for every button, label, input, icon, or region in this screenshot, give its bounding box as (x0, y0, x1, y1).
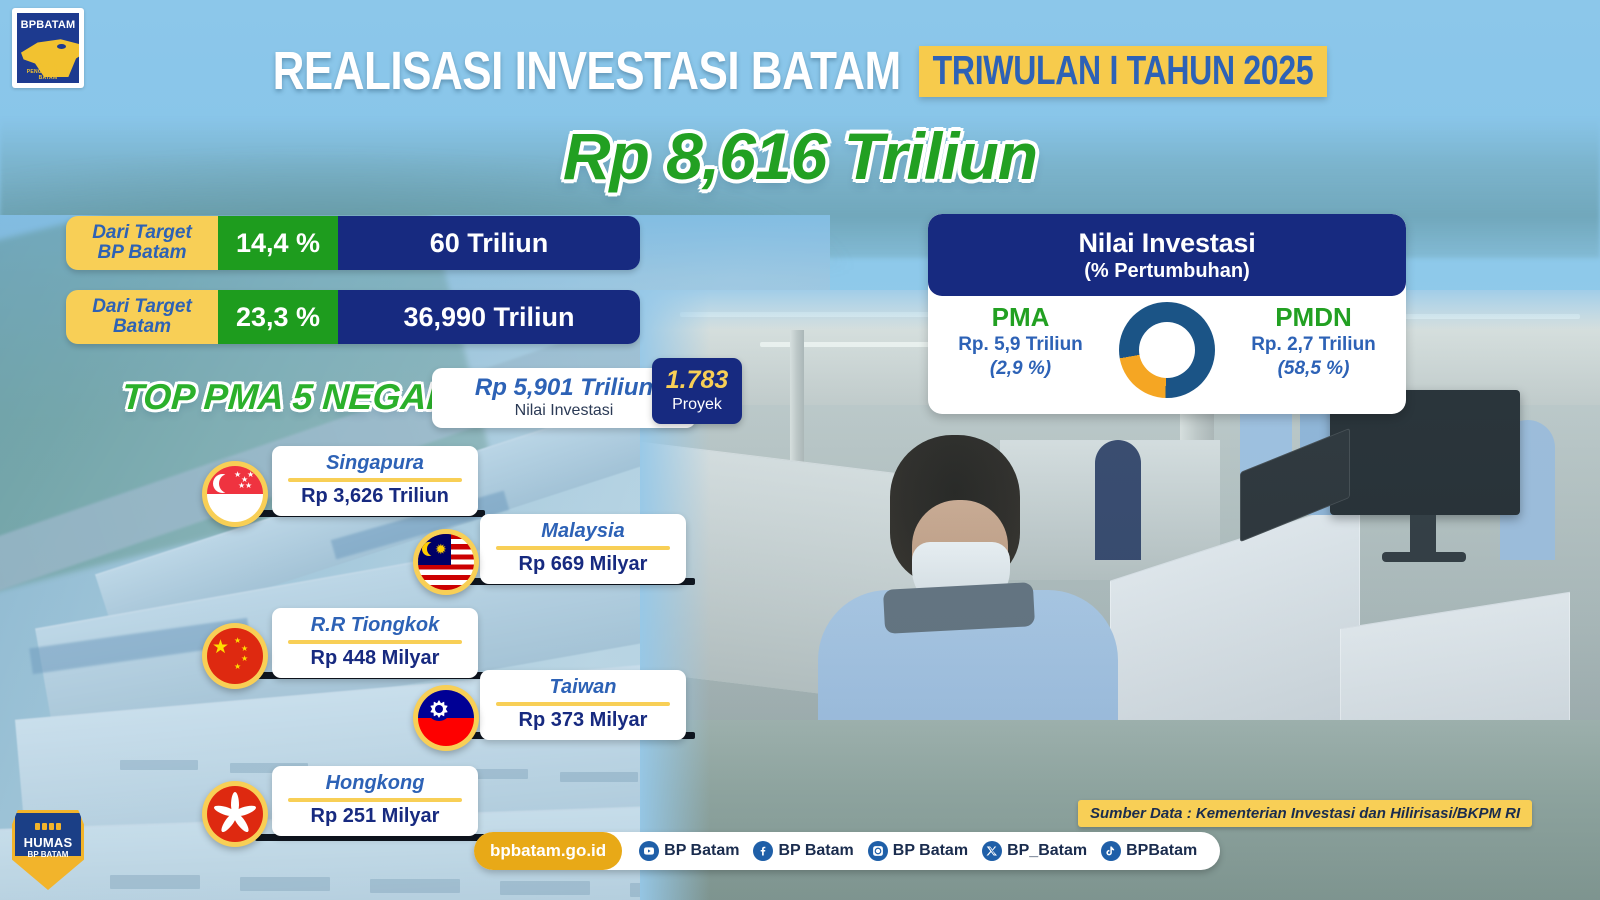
social-handle: BP Batam (664, 842, 739, 860)
x-twitter-icon (982, 841, 1002, 861)
target-label-line1: Dari Target (92, 223, 192, 243)
pmdn-amount: Rp. 2,7 Triliun (1221, 334, 1406, 356)
target-bar-batam: Dari Target Batam 23,3 % 36,990 Triliun (66, 290, 640, 344)
project-count-badge: 1.783 Proyek (652, 358, 742, 424)
tiktok-icon (1101, 841, 1121, 861)
humas-logo-line1: HUMAS (15, 835, 81, 850)
nilai-investasi-card: Nilai Investasi (% Pertumbuhan) PMA Rp. … (928, 214, 1406, 414)
social-handle: BP Batam (778, 842, 853, 860)
flag-china-icon: ★ ★ ★ ★ ★ (202, 623, 268, 689)
social-instagram[interactable]: BP Batam (868, 841, 968, 861)
country-value: Rp 669 Milyar (490, 554, 676, 575)
top-pma-heading: TOP PMA 5 NEGARA (121, 376, 481, 418)
project-count-value: 1.783 (666, 368, 729, 393)
social-facebook[interactable]: BP Batam (753, 841, 853, 861)
target-bar-label: Dari Target Batam (66, 290, 218, 344)
target-value: 60 Triliun (338, 216, 640, 270)
pma-amount: Rp. 5,9 Triliun (928, 334, 1113, 356)
target-label-line2: Batam (113, 317, 171, 337)
page-title: REALISASI INVESTASI BATAM (273, 41, 901, 102)
pmdn-column: PMDN Rp. 2,7 Triliun (58,5 %) (1221, 296, 1406, 380)
country-name: Hongkong (282, 773, 468, 794)
nilai-investasi-title: Nilai Investasi (1078, 228, 1255, 259)
social-youtube[interactable]: BP Batam (639, 841, 739, 861)
pma-total-label: Nilai Investasi (515, 402, 614, 420)
social-x-twitter[interactable]: BP_Batam (982, 841, 1087, 861)
humas-logo-line2: BP BATAM (15, 850, 81, 859)
period-badge: TRIWULAN I TAHUN 2025 (919, 46, 1328, 97)
country-name: R.R Tiongkok (282, 615, 468, 636)
country-name: Malaysia (490, 521, 676, 542)
pmdn-growth: (58,5 %) (1221, 358, 1406, 380)
target-bar-bp-batam: Dari Target BP Batam 14,4 % 60 Triliun (66, 216, 640, 270)
country-value: Rp 448 Milyar (282, 648, 468, 669)
social-handle: BP_Batam (1007, 842, 1087, 860)
pma-growth: (2,9 %) (928, 358, 1113, 380)
total-investment-value: Rp 8,616 Triliun (0, 118, 1600, 194)
facebook-icon (753, 841, 773, 861)
country-value: Rp 251 Milyar (282, 806, 468, 827)
nilai-investasi-body: PMA Rp. 5,9 Triliun (2,9 %) PMDN Rp. 2,7… (928, 296, 1406, 414)
flag-singapore-icon: ★ ★ ★ ★ ★ (202, 461, 268, 527)
humas-bpbatam-logo: HUMAS BP BATAM (12, 810, 84, 890)
target-bar-label: Dari Target BP Batam (66, 216, 218, 270)
website-pill[interactable]: bpbatam.go.id (474, 832, 622, 870)
nilai-investasi-subtitle: (% Pertumbuhan) (1084, 260, 1250, 283)
target-label-line2: BP Batam (97, 243, 186, 263)
pma-label: PMA (928, 304, 1113, 331)
target-percent: 23,3 % (218, 290, 338, 344)
target-percent: 14,4 % (218, 216, 338, 270)
footer-social-bar: bpbatam.go.id BP Batam BP Batam BP Batam… (474, 832, 1220, 870)
flag-taiwan-icon (413, 685, 479, 751)
social-tiktok[interactable]: BPBatam (1101, 841, 1197, 861)
social-handle: BPBatam (1126, 842, 1197, 860)
source-note: Sumber Data : Kementerian Investasi dan … (1078, 800, 1532, 827)
youtube-icon (639, 841, 659, 861)
target-value: 36,990 Triliun (338, 290, 640, 344)
target-label-line1: Dari Target (92, 297, 192, 317)
flag-hongkong-icon (202, 781, 268, 847)
country-name: Singapura (282, 453, 468, 474)
headline-row: REALISASI INVESTASI BATAM TRIWULAN I TAH… (0, 46, 1600, 97)
period-badge-label: TRIWULAN I TAHUN 2025 (933, 47, 1314, 94)
project-count-label: Proyek (672, 396, 722, 414)
infographic-canvas: BPBATAM BADAN PENGUSAHAAN BATAM HUMAS BP… (0, 0, 1600, 900)
flag-malaysia-icon: ✹ (413, 529, 479, 595)
instagram-icon (868, 841, 888, 861)
nilai-investasi-header: Nilai Investasi (% Pertumbuhan) (928, 214, 1406, 296)
bpbatam-logo-title: BPBATAM (17, 19, 79, 31)
social-handle: BP Batam (893, 842, 968, 860)
country-name: Taiwan (490, 677, 676, 698)
country-value: Rp 3,626 Triliun (282, 486, 468, 507)
investment-donut-chart (1119, 302, 1215, 398)
country-value: Rp 373 Milyar (490, 710, 676, 731)
pmdn-label: PMDN (1221, 304, 1406, 331)
pma-total-value: Rp 5,901 Triliun (475, 376, 653, 400)
pma-column: PMA Rp. 5,9 Triliun (2,9 %) (928, 296, 1113, 380)
